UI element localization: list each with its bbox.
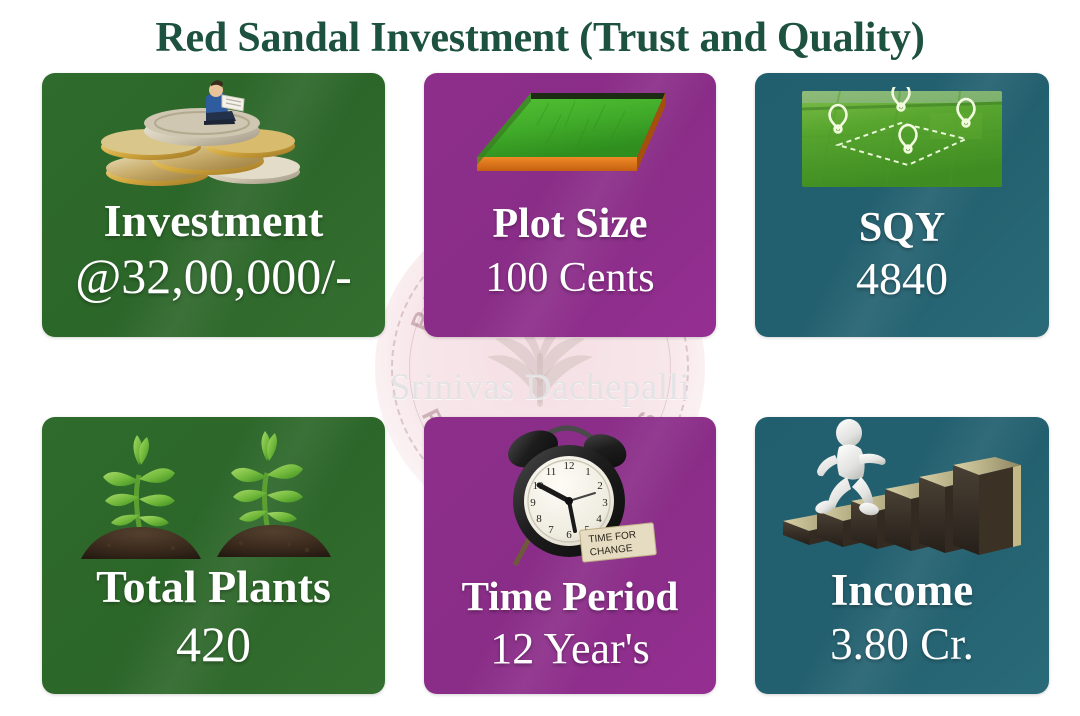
card-value-plot-size: 100 Cents bbox=[424, 256, 716, 301]
card-art-total-plants bbox=[69, 417, 359, 563]
soil-mound-right bbox=[217, 525, 331, 557]
svg-text:2: 2 bbox=[597, 480, 603, 492]
card-income[interactable]: Income 3.80 Cr. bbox=[755, 417, 1049, 694]
grass-plot-icon bbox=[465, 81, 675, 191]
card-text-investment: Investment @32,00,000/- bbox=[42, 191, 385, 303]
svg-text:7: 7 bbox=[548, 524, 554, 536]
card-art-time-period: 1212 345 678 91011 TIME FOR CHANGE bbox=[463, 417, 677, 577]
card-total-plants[interactable]: Total Plants 420 bbox=[42, 417, 385, 694]
card-value-total-plants: 420 bbox=[42, 617, 385, 671]
svg-text:9: 9 bbox=[530, 497, 536, 509]
card-text-time-period: Time Period 12 Year's bbox=[424, 577, 716, 673]
money-stairs-icon bbox=[777, 417, 1027, 567]
svg-text:1: 1 bbox=[585, 466, 591, 478]
card-value-income: 3.80 Cr. bbox=[755, 620, 1049, 669]
card-label-income: Income bbox=[755, 567, 1049, 614]
card-value-time-period: 12 Year's bbox=[424, 625, 716, 673]
card-plot-size[interactable]: Plot Size 100 Cents bbox=[424, 73, 716, 337]
card-text-sqy: SQY 4840 bbox=[755, 191, 1049, 304]
seedlings-icon bbox=[69, 417, 359, 563]
card-art-sqy bbox=[800, 73, 1004, 191]
card-label-total-plants: Total Plants bbox=[42, 563, 385, 611]
clock-leg-left bbox=[515, 539, 529, 565]
card-art-investment bbox=[98, 73, 330, 191]
svg-text:4: 4 bbox=[596, 513, 602, 525]
card-value-sqy: 4840 bbox=[755, 254, 1049, 304]
card-art-income bbox=[777, 417, 1027, 567]
card-label-sqy: SQY bbox=[755, 207, 1049, 251]
land-survey-map-icon bbox=[800, 87, 1004, 191]
card-time-period[interactable]: 1212 345 678 91011 TIME FOR CHANGE bbox=[424, 417, 716, 694]
card-art-plot-size bbox=[465, 73, 675, 191]
card-label-time-period: Time Period bbox=[424, 575, 716, 618]
svg-text:6: 6 bbox=[566, 529, 572, 541]
card-investment[interactable]: Investment @32,00,000/- bbox=[42, 73, 385, 337]
seedling-right bbox=[231, 431, 303, 537]
svg-text:12: 12 bbox=[564, 460, 575, 472]
soil-mound-left bbox=[81, 527, 201, 559]
card-value-investment: @32,00,000/- bbox=[42, 249, 385, 303]
svg-text:11: 11 bbox=[546, 466, 557, 478]
alarm-clock-icon: 1212 345 678 91011 TIME FOR CHANGE bbox=[463, 417, 677, 577]
svg-text:3: 3 bbox=[602, 497, 608, 509]
card-text-income: Income 3.80 Cr. bbox=[755, 567, 1049, 668]
page-title: Red Sandal Investment (Trust and Quality… bbox=[0, 0, 1080, 66]
card-label-investment: Investment bbox=[42, 197, 385, 245]
card-text-plot-size: Plot Size 100 Cents bbox=[424, 191, 716, 302]
stats-card-grid: Investment @32,00,000/- bbox=[0, 73, 1080, 694]
card-text-total-plants: Total Plants 420 bbox=[42, 563, 385, 671]
svg-text:8: 8 bbox=[536, 513, 542, 525]
card-sqy[interactable]: SQY 4840 bbox=[755, 73, 1049, 337]
stacked-coins-icon bbox=[98, 73, 330, 191]
card-label-plot-size: Plot Size bbox=[424, 203, 716, 247]
seedling-left bbox=[103, 435, 175, 537]
